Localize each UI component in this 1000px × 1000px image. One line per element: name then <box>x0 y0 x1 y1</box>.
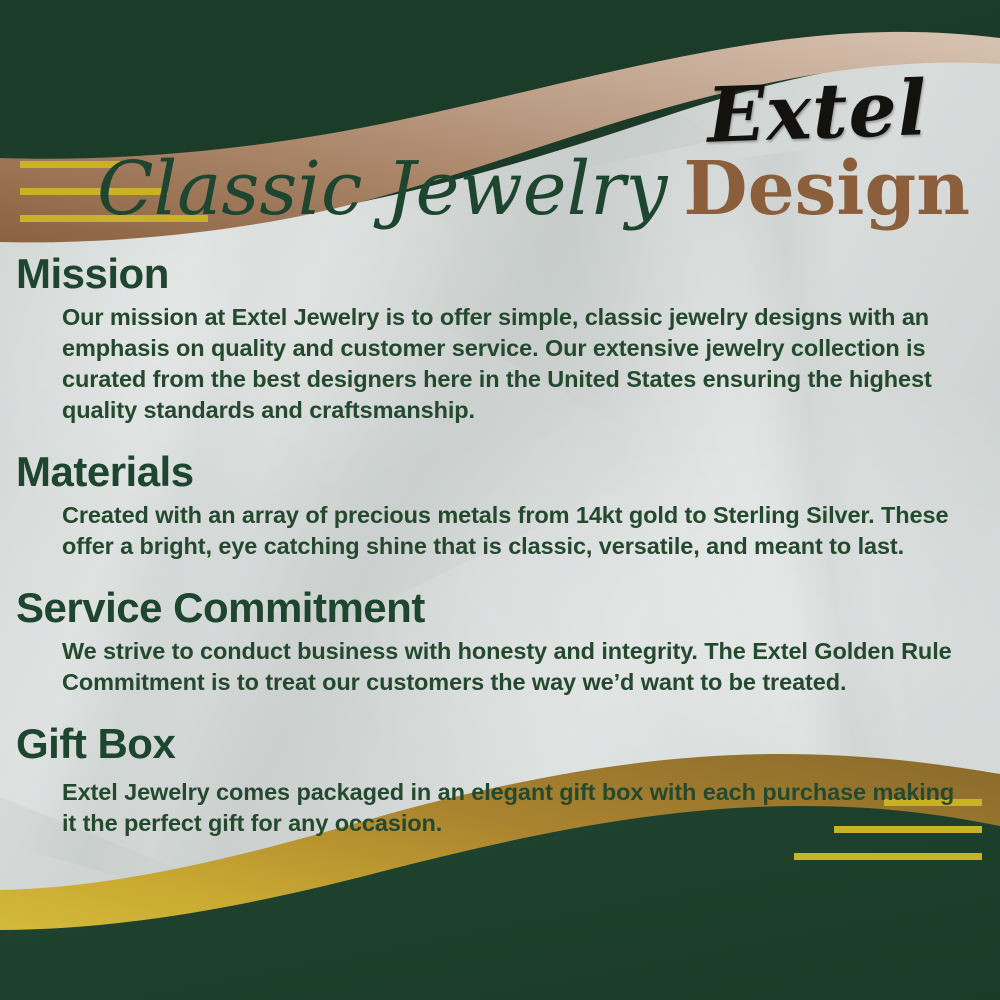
section-title-gift-box: Gift Box <box>16 722 1000 766</box>
section-service-commitment: Service Commitment We strive to conduct … <box>0 586 1000 698</box>
poster-canvas: Extel Classic JewelryDesign Mission Our … <box>0 0 1000 1000</box>
section-gift-box: Gift Box Extel Jewelry comes packaged in… <box>0 722 1000 838</box>
section-body-gift-box: Extel Jewelry comes packaged in an elega… <box>62 777 966 839</box>
section-title-mission: Mission <box>16 252 1000 296</box>
gold-accent-line <box>794 853 982 860</box>
brand-script-wordmark: Extel <box>706 70 929 154</box>
section-body-materials: Created with an array of precious metals… <box>62 500 966 562</box>
section-mission: Mission Our mission at Extel Jewelry is … <box>0 252 1000 426</box>
section-body-mission: Our mission at Extel Jewelry is to offer… <box>62 302 966 426</box>
section-title-service-commitment: Service Commitment <box>16 586 1000 630</box>
section-materials: Materials Created with an array of preci… <box>0 450 1000 562</box>
headline-primary: Classic Jewelry <box>97 146 667 232</box>
content-sections: Mission Our mission at Extel Jewelry is … <box>0 252 1000 839</box>
section-body-service-commitment: We strive to conduct business with hones… <box>62 636 966 698</box>
headline-secondary: Design <box>683 146 970 232</box>
page-title: Classic JewelryDesign <box>0 152 970 226</box>
section-title-materials: Materials <box>16 450 1000 494</box>
